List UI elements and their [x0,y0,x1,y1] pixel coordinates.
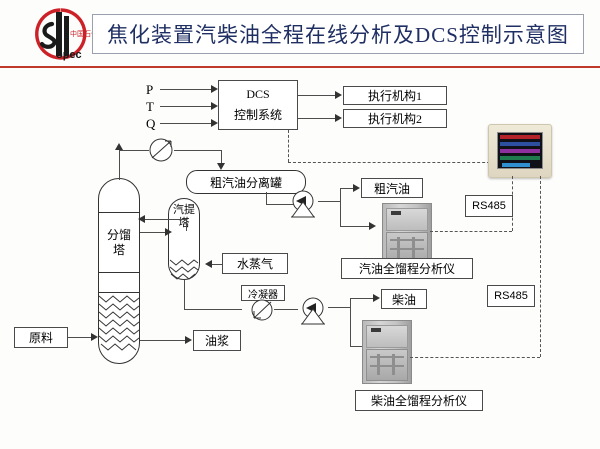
condenser-outlet [274,309,298,310]
diesel-analyzer-pipe-1 [370,356,404,358]
slurry-label: 油浆 [205,332,229,349]
drum-inlet-drop [221,150,222,164]
monitor-row-3 [500,149,540,153]
stream-feed: 原料 [14,327,68,348]
diesel-rs485-link [410,357,540,358]
stripping-tower-label: 汽提塔 [172,204,196,230]
arrow-actuator-2 [335,114,342,122]
drum-outlet-down [266,192,267,204]
diesel-branch-riser [350,298,351,346]
line-p [160,89,212,90]
stream-steam: 水蒸气 [222,253,288,274]
page-title-box: 焦化装置汽柴油全程在线分析及DCS控制示意图 [92,14,584,54]
stripper-return-line [140,219,186,220]
tower-packing [99,293,139,357]
line-actuator-1 [298,95,336,96]
steam-line-b [212,264,222,265]
arrow-drum-inlet [217,163,225,170]
line-actuator-2 [298,118,336,119]
input-label-q: Q [146,116,155,132]
gasoline-rs485-link [430,231,512,232]
gasoline-branch-riser [340,188,341,226]
arrow-crude-gasoline [353,184,360,192]
bus-label-rs485-gasoline: RS485 [465,195,513,217]
rs485-gasoline-text: RS485 [472,200,506,212]
diagram-canvas: 中国石化 opec 焦化装置汽柴油全程在线分析及DCS控制示意图 P T Q D… [0,0,600,449]
diesel-run-to-condenser [184,309,242,310]
diesel-analyzer-upper-panel [366,325,408,348]
gasoline-pump [286,189,320,221]
arrow-tower-draw [165,228,172,236]
slurry-line [140,340,186,341]
gasoline-analyzer-display [391,211,401,216]
input-label-t: T [146,99,154,115]
arrow-q [211,119,218,127]
fractionation-tower-label: 分馏塔 [104,228,134,258]
arrow-steam [205,260,212,268]
input-label-p: P [146,82,153,98]
arrow-overhead-up [115,143,123,150]
tower-overhead-riser [119,146,120,180]
svg-text:opec: opec [56,49,82,61]
gasoline-to-analyzer [340,226,370,227]
dcs-line-1: DCS [246,87,269,102]
arrow-diesel [373,294,380,302]
gasoline-analyzer-pipe-2 [390,248,424,250]
sinopec-logo: 中国石化 opec [26,6,96,64]
diesel-analyzer-display [371,328,381,333]
monitor-row-4 [500,156,540,160]
feed-label: 原料 [29,329,53,346]
condenser-to-drum [174,150,221,151]
tower-tray-1 [98,212,140,213]
stream-diesel: 柴油 [381,289,427,309]
rs485-diesel-text: RS485 [494,290,528,302]
gasoline-pump-discharge [318,201,340,202]
header-divider [0,66,600,68]
gasoline-to-label [340,188,354,189]
monitor-screen [497,132,543,169]
overhead-to-condenser [119,150,149,151]
stripping-tower-packing [169,256,199,280]
gasoline-analyzer-pipe-3 [397,237,400,258]
overhead-condenser-symbol [146,137,176,164]
diesel-analyzer-label: 柴油全馏程分析仪 [371,392,467,409]
crude-gasoline-label: 粗汽油 [374,180,410,197]
stripper-return-riser [186,219,187,231]
arrow-t [211,102,218,110]
diesel-analyzer-pipe-4 [392,354,395,375]
diesel-analyzer-pipe-3 [377,354,380,375]
stripper-bottom-line [184,280,185,309]
gasoline-analyzer-pipe-4 [412,237,415,258]
gasoline-analyzer-label-box: 汽油全馏程分析仪 [341,258,473,279]
stream-slurry: 油浆 [193,330,241,351]
arrow-actuator-1 [335,91,342,99]
dcs-line-2: 控制系统 [234,106,282,123]
diesel-pump-discharge [328,307,350,308]
tower-draw-line [140,232,166,233]
line-t [160,106,212,107]
gasoline-analyzer-pipe-1 [390,239,424,241]
steam-label: 水蒸气 [237,255,273,272]
condenser-valve-symbol [248,298,276,323]
dcs-signal-down [288,130,289,162]
actuator-2-label: 执行机构2 [368,110,422,127]
actuator-1-label: 执行机构1 [368,87,422,104]
monitor-row-2 [500,142,540,146]
arrow-gasoline-analyzer [369,222,376,230]
stream-crude-gasoline: 粗汽油 [361,178,423,198]
diesel-to-label [350,298,374,299]
dcs-control-block[interactable]: DCS 控制系统 [218,80,298,130]
actuator-2[interactable]: 执行机构2 [343,109,447,128]
diesel-pump [296,295,330,327]
diesel-analyzer-photo [362,320,412,384]
separator-drum-label: 粗汽油分离罐 [210,174,282,191]
arrow-slurry [185,336,192,344]
page-title: 焦化装置汽柴油全程在线分析及DCS控制示意图 [107,19,569,49]
diesel-analyzer-lower-panel [366,349,408,381]
arrow-p [211,85,218,93]
diesel-label: 柴油 [392,291,416,308]
monitor-row-5 [502,163,530,167]
dcs-monitor-photo [488,124,552,178]
arrow-feed [91,333,98,341]
tower-tray-2 [98,272,140,273]
arrow-stripper-return [138,215,145,223]
bus-label-rs485-diesel: RS485 [487,285,535,307]
gasoline-analyzer-label: 汽油全馏程分析仪 [359,260,455,277]
diesel-analyzer-label-box: 柴油全馏程分析仪 [355,390,483,411]
line-q [160,123,212,124]
diesel-analyzer-pipe-2 [370,365,404,367]
monitor-row-1 [500,135,540,139]
feed-line [68,337,92,338]
gasoline-analyzer-upper-panel [386,208,428,231]
dcs-signal-right [288,162,510,163]
diesel-rs485-riser [540,176,541,357]
actuator-1[interactable]: 执行机构1 [343,86,447,105]
